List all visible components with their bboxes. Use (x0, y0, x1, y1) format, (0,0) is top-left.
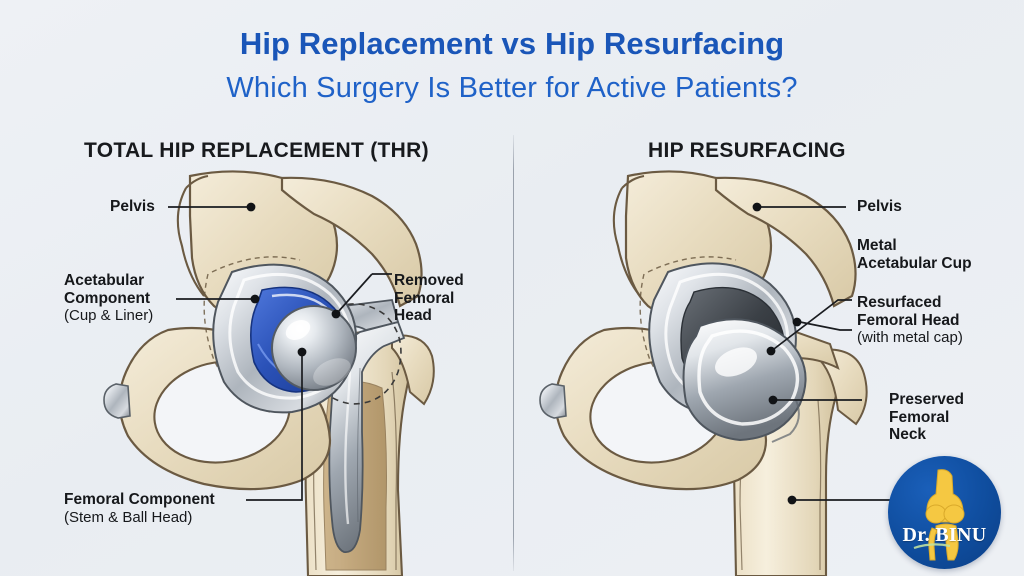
label-femoral-component: Femoral Component (Stem & Ball Head) (64, 491, 215, 526)
label-acetabular-component: Acetabular Component (Cup & Liner) (64, 272, 153, 325)
knee-joint-icon (888, 456, 1001, 569)
label-removed-femoral-head: Removed Femoral Head (394, 272, 464, 325)
label-pelvis-right: Pelvis (857, 198, 902, 216)
logo-text: Dr. BINU (888, 524, 1001, 547)
label-preserved-femoral-neck: Preserved Femoral Neck (889, 391, 964, 444)
label-pelvis-left: Pelvis (110, 198, 155, 216)
infographic-canvas: Hip Replacement vs Hip Resurfacing Which… (0, 0, 1024, 576)
label-metal-acetabular-cup: Metal Acetabular Cup (857, 237, 972, 272)
label-resurfaced-femoral-head: Resurfaced Femoral Head (with metal cap) (857, 294, 963, 347)
brand-logo[interactable]: Dr. BINU (888, 456, 1001, 569)
anatomy-illustrations (0, 0, 1024, 576)
